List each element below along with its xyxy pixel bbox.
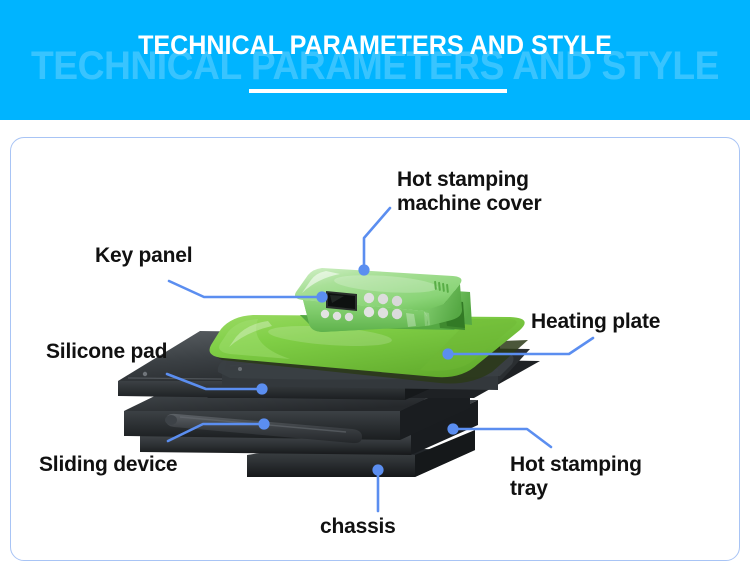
panel-button <box>378 294 388 304</box>
callout-label-sliding-device: Sliding device <box>39 453 177 477</box>
machine-part-machine-cover <box>295 268 462 332</box>
callout-label-heating-plate: Heating plate <box>531 310 660 334</box>
page-root: TECHNICAL PARAMETERS AND STYLE TECHNICAL… <box>0 0 750 575</box>
panel-button <box>364 307 374 317</box>
panel-button <box>392 296 402 306</box>
callout-label-chassis: chassis <box>320 515 396 539</box>
panel-button <box>378 308 388 318</box>
panel-button <box>321 310 329 318</box>
panel-button <box>345 313 353 321</box>
callout-label-silicone-pad: Silicone pad <box>46 340 167 364</box>
callout-label-hot-stamping-tray: Hot stamping tray <box>510 453 642 500</box>
callout-label-hot-stamping-machine-cover: Hot stamping machine cover <box>397 168 541 215</box>
panel-button <box>333 312 341 320</box>
callout-label-key-panel: Key panel <box>95 244 192 268</box>
panel-button <box>364 293 374 303</box>
panel-button <box>392 309 402 319</box>
